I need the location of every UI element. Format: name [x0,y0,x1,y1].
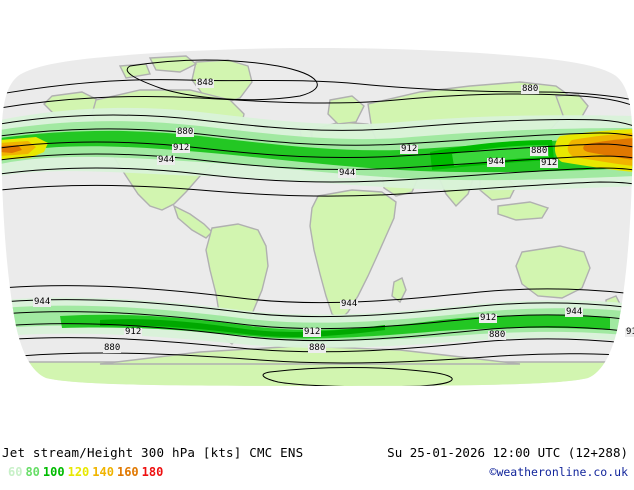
legend-tick-160: 160 [117,465,139,479]
legend-tick-120: 120 [68,465,90,479]
contour-label-944-13: 944 [340,300,358,309]
contour-label-912-11: 912 [124,328,142,337]
contour-label-880-19: 880 [488,331,506,340]
legend-scale: 6080100120140160180 [8,465,166,479]
legend-tick-140: 140 [92,465,114,479]
contour-label-880-8: 880 [530,147,548,156]
contour-label-944-5: 944 [338,169,356,178]
contour-label-848-0: 848 [196,79,214,88]
contour-label-944-17: 944 [565,308,583,317]
footer-bar: Jet stream/Height 300 hPa [kts] CMC ENS … [0,440,634,490]
legend-tick-60: 60 [8,465,22,479]
weather-map-page: 8488809129449129448809448809129449128809… [0,0,634,490]
contour-label-944-10: 944 [33,298,51,307]
valid-time-label: Su 25-01-2026 12:00 UTC (12+288) [387,445,628,460]
legend-tick-80: 80 [25,465,39,479]
contour-label-912-2: 912 [172,144,190,153]
legend-tick-100: 100 [43,465,65,479]
contour-label-912-18: 912 [479,314,497,323]
contour-label-880-6: 880 [521,85,539,94]
contour-label-880-15: 880 [308,344,326,353]
map-canvas[interactable]: 8488809129449129448809448809129449128809… [0,0,634,440]
copyright-link[interactable]: ©weatheronline.co.uk [490,465,628,479]
contour-label-944-3: 944 [157,156,175,165]
contour-label-912-9: 912 [540,159,558,168]
contour-label-912-4: 912 [400,145,418,154]
contour-label-880-1: 880 [176,128,194,137]
land-antarctica [0,362,634,392]
contour-label-912-16: 912 [625,328,634,337]
map-body [0,0,634,440]
world-map-svg [0,0,634,440]
contour-label-944-7: 944 [487,158,505,167]
map-title: Jet stream/Height 300 hPa [kts] CMC ENS [2,445,303,460]
contour-label-880-12: 880 [103,344,121,353]
contour-label-912-14: 912 [303,328,321,337]
legend-tick-180: 180 [142,465,164,479]
